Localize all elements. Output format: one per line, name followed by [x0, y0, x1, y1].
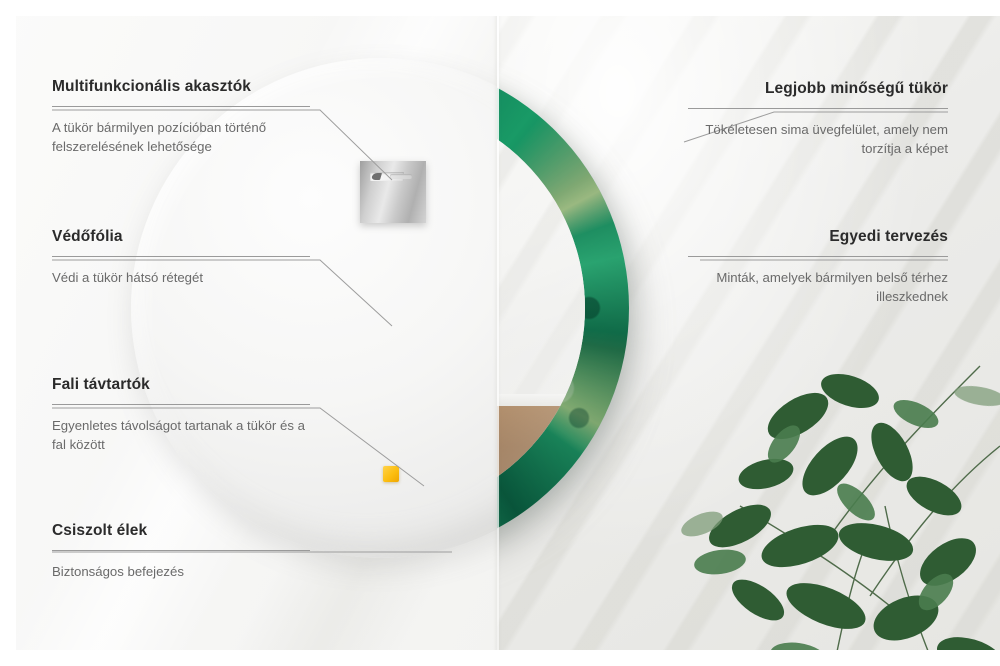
callout-title: Csiszolt élek [52, 522, 310, 541]
callout-title: Legjobb minőségű tükör [688, 80, 948, 99]
callout-polished-edges: Csiszolt élek Biztonságos befejezés [52, 522, 310, 581]
callout-title: Védőfólia [52, 228, 310, 247]
frame-edge-top [0, 0, 1000, 16]
callout-rule [52, 404, 310, 405]
decorative-mirror [497, 58, 629, 558]
mirror-glass [497, 102, 585, 514]
frame-edge-left [0, 0, 16, 666]
callout-description: Biztonságos befejezés [52, 562, 310, 581]
callout-description: Egyenletes távolságot tartanak a tükör é… [52, 416, 310, 454]
glass-reflection-sheen [497, 102, 585, 514]
keyhole-hanger-plate [360, 161, 426, 223]
callout-rule [688, 108, 948, 109]
callout-rule [52, 550, 310, 551]
callout-description: Tökéletesen sima üvegfelület, amely nem … [688, 120, 948, 158]
callout-title: Multifunkcionális akasztók [52, 78, 310, 97]
plant-foliage [680, 356, 1000, 666]
callout-description: Minták, amelyek bármilyen belső térhez i… [688, 268, 948, 306]
callout-hangers: Multifunkcionális akasztók A tükör bármi… [52, 78, 310, 156]
frame-edge-bottom [0, 650, 1000, 666]
callout-unique-design: Egyedi tervezés Minták, amelyek bármilye… [688, 228, 948, 306]
callout-rule [52, 256, 310, 257]
callout-title: Fali távtartók [52, 376, 310, 395]
callout-description: Védi a tükör hátsó rétegét [52, 268, 310, 287]
callout-rule [688, 256, 948, 257]
callout-wall-spacers: Fali távtartók Egyenletes távolságot tar… [52, 376, 310, 454]
callout-description: A tükör bármilyen pozícióban történő fel… [52, 118, 310, 156]
callout-best-quality-mirror: Legjobb minőségű tükör Tökéletesen sima … [688, 80, 948, 158]
keyhole-slot-secondary [390, 174, 412, 179]
callout-rule [52, 106, 310, 107]
callout-protective-film: Védőfólia Védi a tükör hátsó rétegét [52, 228, 310, 287]
panel-divider [497, 0, 499, 666]
wall-spacer [383, 466, 399, 482]
product-infographic: Multifunkcionális akasztók A tükör bármi… [0, 0, 1000, 666]
callout-title: Egyedi tervezés [688, 228, 948, 247]
